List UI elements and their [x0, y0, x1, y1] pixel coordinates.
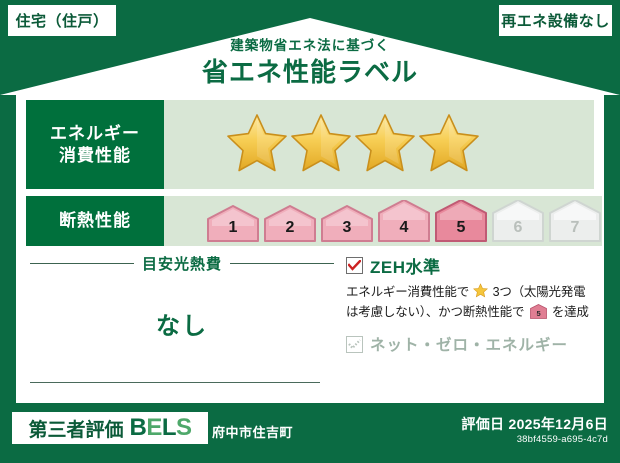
insulation-level-number: 5 — [434, 219, 488, 237]
zeh-desc-part4: を達成 — [552, 305, 589, 319]
insulation-level-2: 2 — [263, 200, 317, 242]
energy-label-line2: 消費性能 — [50, 145, 140, 167]
insulation-level-7: 7 — [548, 200, 602, 242]
star-icon — [290, 112, 352, 177]
utility-cost-title: 目安光熱費 — [142, 253, 222, 274]
inline-star-icon — [470, 287, 492, 301]
star-icon — [418, 112, 480, 177]
star-icon — [354, 112, 416, 177]
net-zero-energy-label: ネット・ゼロ・エネルギー — [370, 333, 568, 355]
zeh-header: ZEH水準 — [346, 253, 594, 278]
energy-performance-value — [164, 100, 594, 189]
zeh-panel: ZEH水準 エネルギー消費性能で 3つ（太陽光発電 は考慮しない）、かつ断熱性能… — [338, 253, 594, 401]
utility-cost-panel: 目安光熱費 なし — [26, 253, 338, 401]
insulation-level-1: 1 — [206, 200, 260, 242]
label-footer: 第三者評価 BELS 府中市住吉町 評価日 2025年12月6日 38bf455… — [0, 403, 620, 463]
energy-performance-label: エネルギー 消費性能 — [26, 100, 164, 189]
zeh-desc-part3: は考慮しない）、かつ断熱性能で — [346, 305, 524, 319]
inline-house-badge: 5 — [526, 308, 550, 322]
zeh-desc-part1: エネルギー消費性能で — [346, 285, 469, 299]
insulation-level-5: 5 — [434, 200, 488, 242]
label-card: エネルギー 消費性能 断熱性能 1234567 目安光熱費 — [16, 92, 604, 403]
zeh-checkbox[interactable] — [346, 257, 363, 274]
star-rating — [164, 112, 480, 177]
tag-renewable-equipment: 再エネ設備なし — [499, 5, 612, 36]
net-zero-energy-row: ネット・ゼロ・エネルギー — [346, 333, 594, 355]
insulation-level-number: 2 — [263, 219, 317, 237]
insulation-level-6: 6 — [491, 200, 545, 242]
zeh-desc-part2: 3つ（太陽光発電 — [493, 285, 586, 299]
insulation-level-scale: 1234567 — [164, 200, 602, 242]
energy-label-line1: エネルギー — [50, 123, 140, 145]
footer-evaluation-date: 評価日 2025年12月6日 — [461, 414, 608, 434]
zeh-description: エネルギー消費性能で 3つ（太陽光発電 は考慮しない）、かつ断熱性能で 5 を達… — [346, 283, 594, 324]
star-icon — [226, 112, 288, 177]
title-subtitle: 建築物省エネ法に基づく — [0, 38, 620, 54]
bels-letter-e: E — [146, 414, 162, 441]
utility-cost-value: なし — [26, 306, 338, 341]
lower-section: 目安光熱費 なし ZEH水準 エネルギー消費性能で — [26, 253, 594, 401]
bels-badge: 第三者評価 BELS — [12, 412, 208, 444]
insulation-level-number: 6 — [491, 219, 545, 237]
bels-letter-s: S — [176, 414, 192, 441]
insulation-level-number: 3 — [320, 219, 374, 237]
insulation-level-3: 3 — [320, 200, 374, 242]
rule-left — [30, 263, 134, 264]
insulation-performance-value: 1234567 — [164, 196, 602, 246]
row-insulation-performance: 断熱性能 1234567 — [26, 196, 594, 246]
bels-logo: BELS — [129, 416, 191, 440]
bels-letter-b: B — [129, 414, 146, 441]
row-energy-performance: エネルギー 消費性能 — [26, 100, 594, 189]
insulation-label-text: 断熱性能 — [59, 210, 131, 232]
insulation-level-number: 1 — [206, 219, 260, 237]
net-zero-energy-checkbox[interactable] — [346, 336, 363, 353]
tag-building-type: 住宅（住戸） — [8, 5, 116, 36]
bels-letter-l: L — [162, 414, 176, 441]
utility-cost-header: 目安光熱費 — [26, 253, 338, 274]
rule-right — [230, 263, 334, 264]
footer-certificate-id: 38bf4559-a695-4c7d — [517, 434, 608, 445]
check-icon — [348, 260, 361, 271]
third-party-evaluation-text: 第三者評価 — [28, 415, 123, 442]
utility-cost-bottom-rule — [30, 382, 320, 383]
insulation-level-number: 7 — [548, 219, 602, 237]
insulation-performance-label: 断熱性能 — [26, 196, 164, 246]
check-icon-disabled — [348, 339, 361, 350]
label-title-block: 建築物省エネ法に基づく 省エネ性能ラベル — [0, 38, 620, 89]
inline-house-number: 5 — [536, 309, 540, 318]
page-title: 省エネ性能ラベル — [0, 56, 620, 89]
insulation-level-4: 4 — [377, 200, 431, 242]
zeh-title: ZEH水準 — [370, 253, 441, 278]
insulation-level-number: 4 — [377, 219, 431, 237]
bels-energy-label: 住宅（住戸） 再エネ設備なし 建築物省エネ法に基づく 省エネ性能ラベル エネルギ… — [0, 0, 620, 463]
footer-location: 府中市住吉町 — [212, 422, 293, 441]
